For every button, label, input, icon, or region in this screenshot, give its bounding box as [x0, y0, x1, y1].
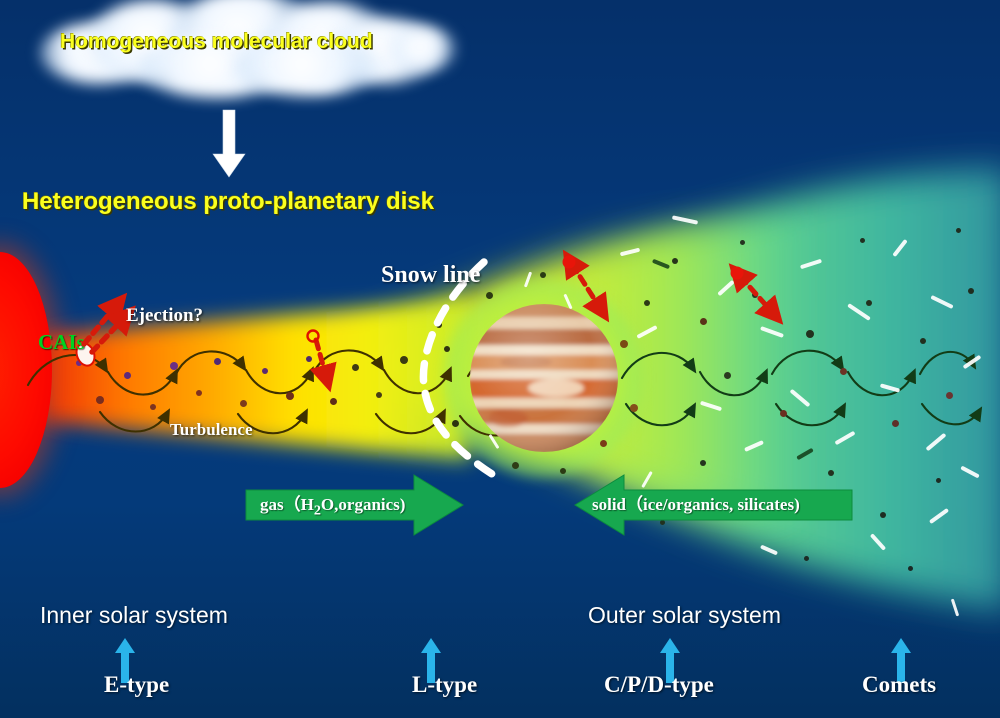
figure-canvas: Homogeneous molecular cloud Heterogeneou…	[0, 0, 1000, 718]
solid-arrow-label: solid（ice/organics, silicates)	[592, 490, 800, 515]
body-type-label: C/P/D-type	[604, 672, 714, 698]
gas-label-post: O,organics)	[321, 495, 406, 514]
body-type-label: L-type	[412, 672, 477, 698]
body-type-label: E-type	[104, 672, 169, 698]
inner-region-label: Inner solar system	[40, 602, 228, 629]
gas-label-sub: 2	[314, 502, 321, 518]
outer-region-label: Outer solar system	[588, 602, 781, 629]
gas-label-pre: gas（H	[260, 495, 314, 514]
body-type-label: Comets	[862, 672, 936, 698]
gas-arrow-label: gas（H2O,organics)	[260, 490, 405, 519]
turbulence-label: Turbulence	[170, 420, 253, 440]
